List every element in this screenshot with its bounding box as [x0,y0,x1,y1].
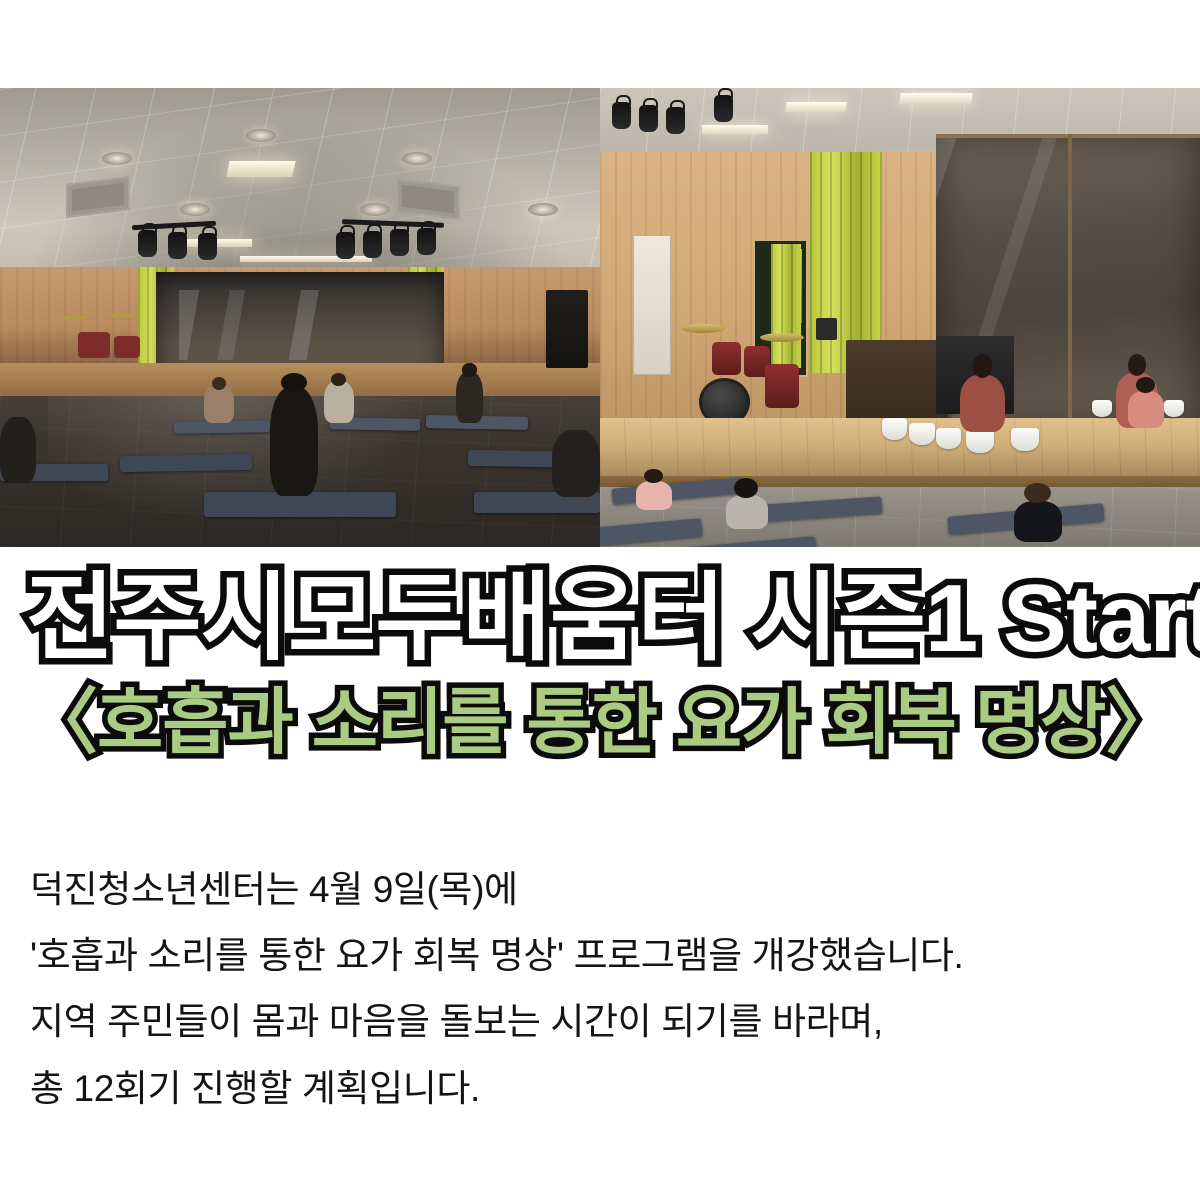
ceiling-panel-light [226,161,295,177]
ceiling-panel-light [899,93,973,104]
singing-bowl-icon [936,428,961,449]
singing-bowl-icon [966,430,994,453]
participant [726,478,768,528]
photo-left-dance-studio [0,88,600,547]
downlight-icon [180,203,210,216]
tom-drum-icon [78,332,110,358]
poster-page: 전주시모두배움터 시즌1 Start! 〈호흡과 소리를 통한 요가 회복 명상… [0,0,1200,1200]
speaker-icon [546,290,588,368]
participant [324,373,354,423]
participant-head [644,469,663,483]
singing-bowl-icon [1164,400,1184,417]
participant-body [204,385,234,423]
instructor-body [960,375,1005,433]
body-line: 지역 주민들이 몸과 마음을 돌보는 시간이 되기를 바라며, [30,994,1180,1050]
mirror-post [1068,134,1072,428]
drum-kit [678,318,810,428]
poster-title-line1: 전주시모두배움터 시즌1 Start! [0,560,1200,677]
participant-body [456,372,483,423]
singing-bowl-icon [1092,400,1112,417]
singing-bowl-icon [1011,428,1039,451]
participant [0,409,36,482]
participant [552,423,600,496]
body-line: '호흡과 소리를 통한 요가 회복 명상' 프로그램을 개강했습니다. [30,928,1180,984]
participant-reflection [1128,377,1164,427]
title-block: 전주시모두배움터 시즌1 Start! 〈호흡과 소리를 통한 요가 회복 명상… [0,560,1200,771]
photo-band [0,88,1200,547]
participant [456,363,483,423]
door [633,235,671,375]
downlight-icon [528,203,558,216]
body-copy: 덕진청소년센터는 4월 9일(목)에 '호흡과 소리를 통한 요가 회복 명상'… [30,862,1180,1127]
stage-light-icon [138,230,157,257]
music-stand-icon [816,318,837,341]
participant-body [324,381,354,423]
photo-right-music-room [600,88,1200,547]
body-line: 총 12회기 진행할 계획입니다. [30,1061,1180,1117]
stage-light-icon [390,229,409,256]
poster-title-line2: 〈호흡과 소리를 통한 요가 회복 명상〉 [0,677,1200,771]
participant-head [462,363,476,376]
instructor-head [973,354,993,377]
cymbal-icon [760,333,804,342]
participant-foreground [270,373,318,497]
ceiling-panel-light [785,102,847,112]
stage-light-icon [168,232,187,259]
stage-light-icon [612,102,631,129]
stage-light-icon [198,233,217,260]
drum-kit [54,304,162,368]
body-line: 덕진청소년센터는 4월 9일(목)에 [30,862,1180,918]
cymbal-icon [681,324,725,333]
participant-body [270,387,318,496]
participant-body [1014,501,1062,543]
stage-light-icon [714,95,733,122]
floor-tom-icon [765,364,799,408]
participant-body [726,495,768,528]
participant-body [0,417,36,483]
stage-light-icon [666,107,685,134]
stage-light-icon [336,232,355,259]
cymbal-icon [110,313,136,318]
singing-bowl-icon [909,423,935,445]
participant [636,469,672,510]
participant-head [1024,483,1052,503]
participant-reflection-body [1128,391,1164,427]
stage-light-icon [363,231,382,258]
singing-bowl-icon [882,418,907,439]
mirror-wall [156,272,444,373]
participant [204,377,234,423]
participant-head [212,377,226,390]
participant-body [552,430,600,496]
stage-light-icon [639,105,658,132]
participant-body [636,481,672,510]
participant [1014,483,1062,543]
tom-drum-icon [712,342,741,375]
participant-head [331,373,346,386]
tom-drum-icon [114,336,140,358]
instructor [960,354,1005,432]
downlight-icon [360,203,390,216]
yoga-mat [120,454,252,472]
cymbal-icon [60,315,86,320]
stage-light-icon [417,228,436,255]
ceiling-panel-light [702,125,768,134]
